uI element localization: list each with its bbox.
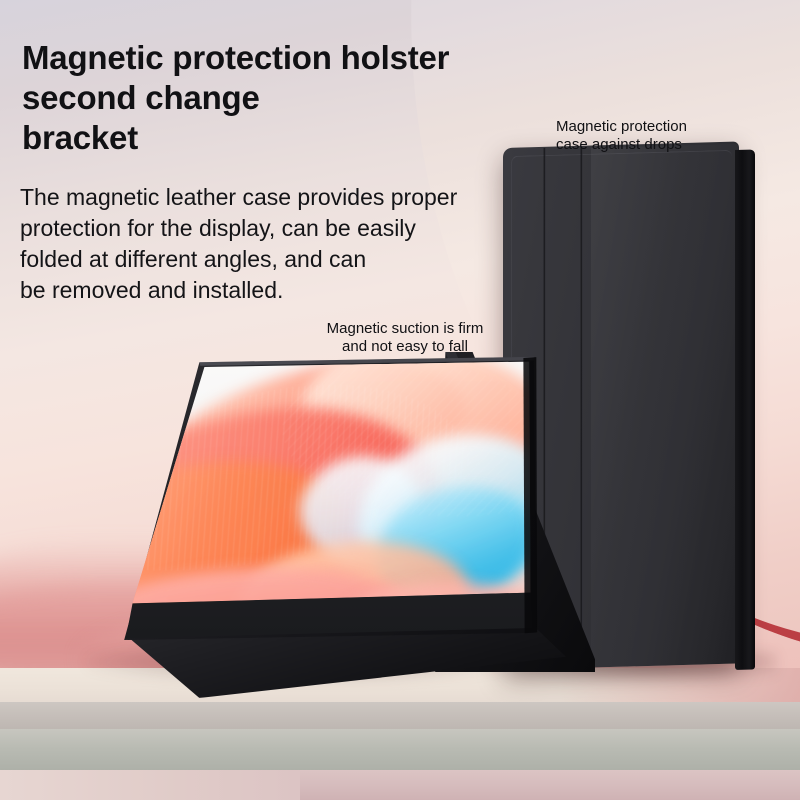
- body-description: The magnetic leather case provides prope…: [20, 182, 510, 306]
- product-poster: Magnetic protection holster second chang…: [0, 0, 800, 800]
- callout-case-against-drops: Magnetic protection case against drops: [556, 118, 687, 154]
- portable-monitor: [120, 352, 538, 652]
- shelf-front-face: [0, 729, 800, 771]
- callout-magnetic-suction: Magnetic suction is firm and not easy to…: [300, 320, 510, 356]
- floor-band-left-highlight: [0, 770, 300, 800]
- shelf-edge-band: [0, 702, 800, 730]
- page-title: Magnetic protection holster second chang…: [22, 38, 522, 158]
